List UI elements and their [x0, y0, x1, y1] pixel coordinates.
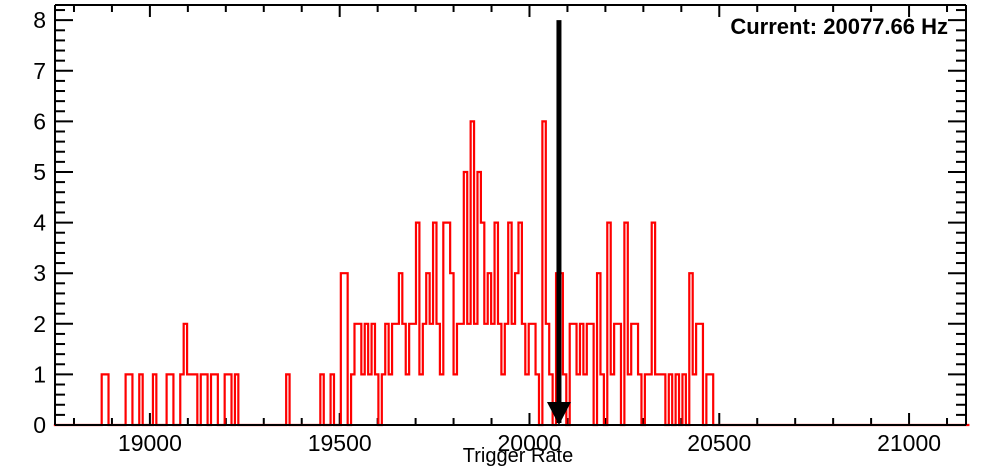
y-tick-label: 0	[33, 412, 46, 438]
x-tick-label: 19500	[308, 430, 372, 456]
y-tick-label: 5	[33, 159, 46, 185]
y-axis-tick-labels: 012345678	[33, 7, 46, 438]
current-rate-label: Current: 20077.66 Hz	[730, 14, 948, 39]
x-tick-label: 21000	[877, 430, 941, 456]
current-value-marker	[547, 20, 571, 425]
y-tick-label: 6	[33, 108, 46, 134]
y-tick-label: 7	[33, 58, 46, 84]
trigger-rate-histogram: 1900019500200002050021000 012345678 Trig…	[0, 0, 996, 472]
y-tick-label: 8	[33, 7, 46, 33]
chart-canvas: 1900019500200002050021000 012345678 Trig…	[0, 0, 996, 472]
plot-frame	[55, 5, 966, 425]
y-tick-label: 4	[33, 210, 46, 236]
x-tick-label: 19000	[118, 430, 182, 456]
y-axis-ticks	[55, 10, 966, 425]
y-tick-label: 1	[33, 361, 46, 387]
y-tick-label: 3	[33, 260, 46, 286]
y-tick-label: 2	[33, 311, 46, 337]
histogram-series	[54, 121, 970, 425]
x-axis-ticks	[74, 5, 947, 425]
x-axis-title: Trigger Rate	[463, 445, 573, 467]
x-tick-label: 20500	[687, 430, 751, 456]
